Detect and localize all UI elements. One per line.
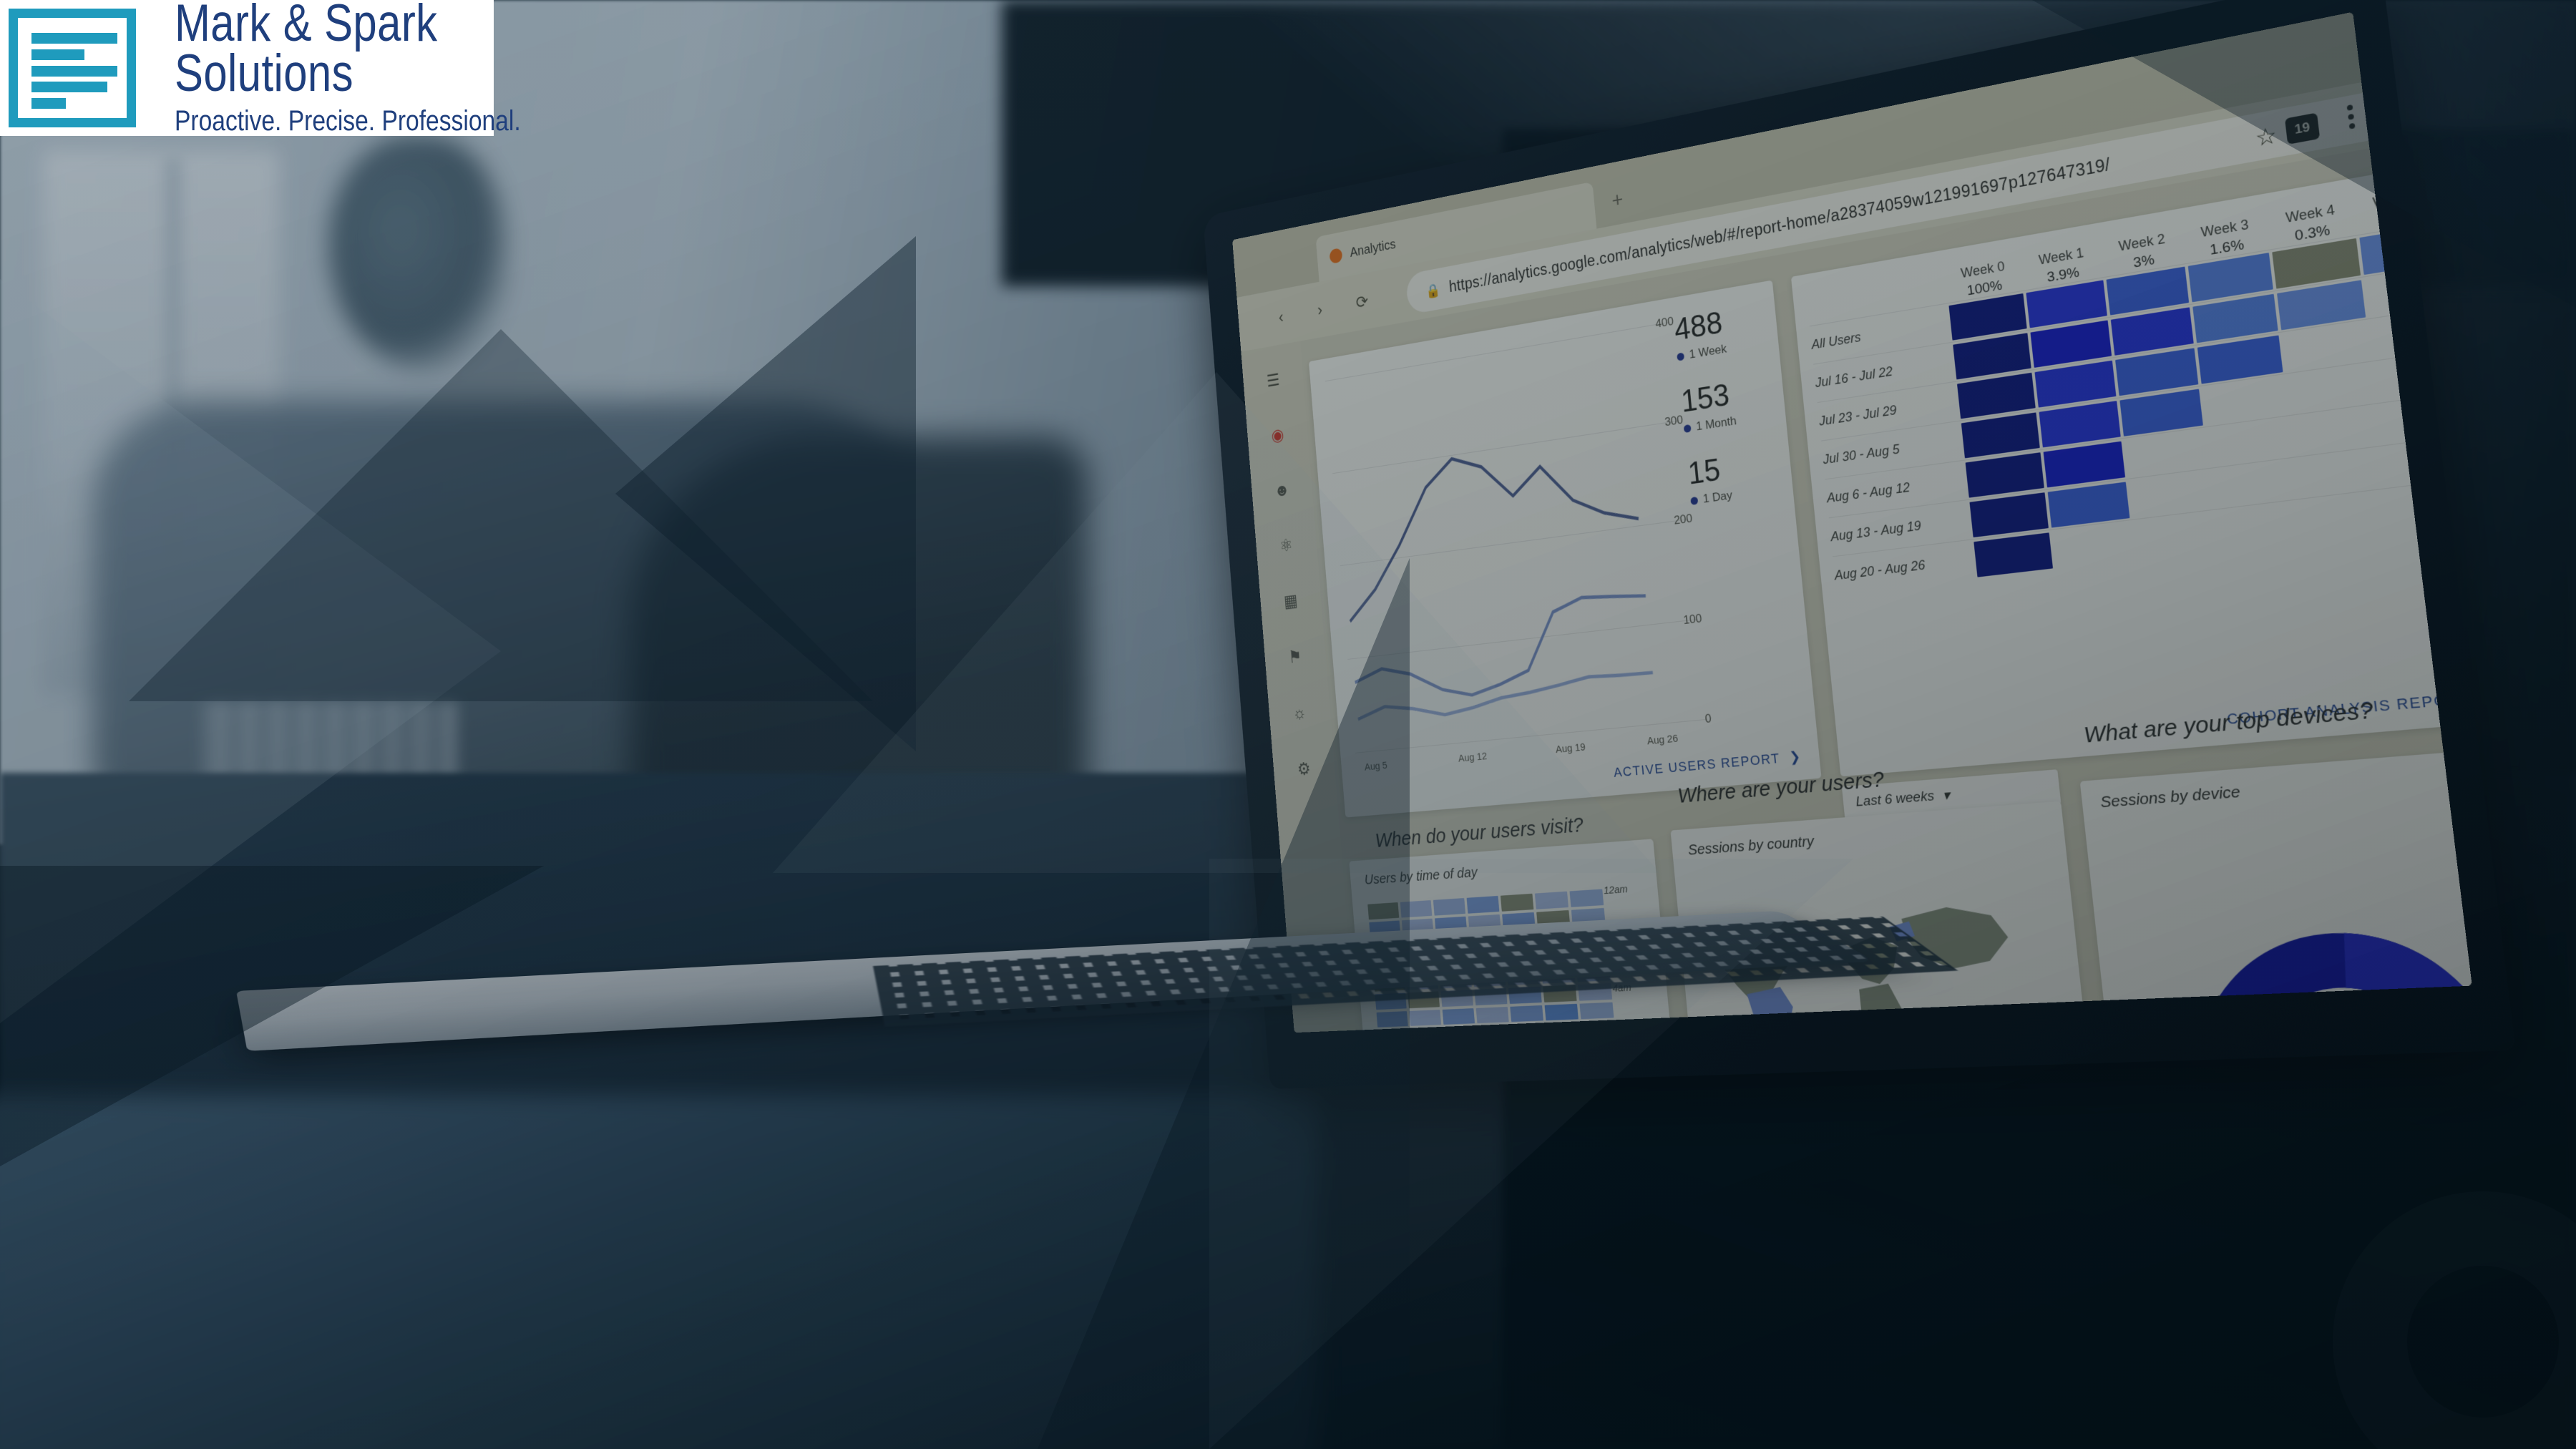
brand-name-line1: Mark & Spark bbox=[175, 0, 512, 48]
brand-tagline: Proactive. Precise. Professional. bbox=[175, 106, 521, 137]
marketing-banner: Analytics + ‹ › ⟳ 🔒 https://analytics.go… bbox=[0, 0, 2576, 1449]
brand-name-line2: Solutions bbox=[175, 49, 512, 99]
color-tint-overlay bbox=[0, 0, 2576, 1449]
company-logo: Mark & Spark Solutions Proactive. Precis… bbox=[0, 0, 494, 136]
document-lines-icon bbox=[9, 9, 136, 127]
